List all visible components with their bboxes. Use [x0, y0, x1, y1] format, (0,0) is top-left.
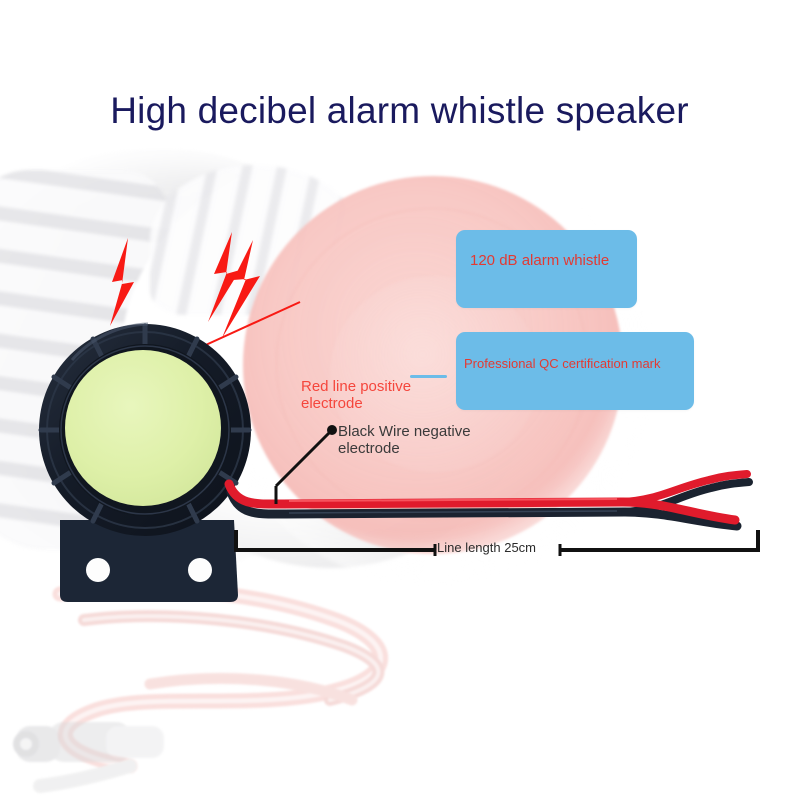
callout-decibel: 120 dB alarm whistle — [456, 230, 637, 308]
speaker-diaphragm — [65, 350, 221, 506]
red-wire-annotation-line2: electrode — [301, 395, 363, 412]
black-wire-annotation-line2: electrode — [338, 440, 400, 457]
callout-qc-certification: Professional QC certification mark — [456, 332, 694, 410]
blue-connector-dash — [410, 375, 447, 378]
red-wire-annotation: Red line positive electrode — [301, 378, 441, 412]
black-wire-annotation: Black Wire negative electrode — [338, 423, 503, 457]
mount-hole — [188, 558, 212, 582]
callout-decibel-label: 120 dB alarm whistle — [470, 252, 609, 270]
black-wire-annotation-line1: Black Wire negative — [338, 423, 471, 440]
mount-hole — [86, 558, 110, 582]
line-length-label: Line length 25cm — [437, 540, 536, 555]
product-image-canvas: High decibel alarm whistle speaker — [0, 0, 799, 800]
leader-dot — [327, 425, 337, 435]
page-title: High decibel alarm whistle speaker — [0, 88, 799, 134]
red-wire-annotation-line1: Red line positive — [301, 378, 411, 395]
callout-qc-certification-label: Professional QC certification mark — [464, 355, 661, 373]
ghost-barrel-connector — [2, 700, 172, 796]
